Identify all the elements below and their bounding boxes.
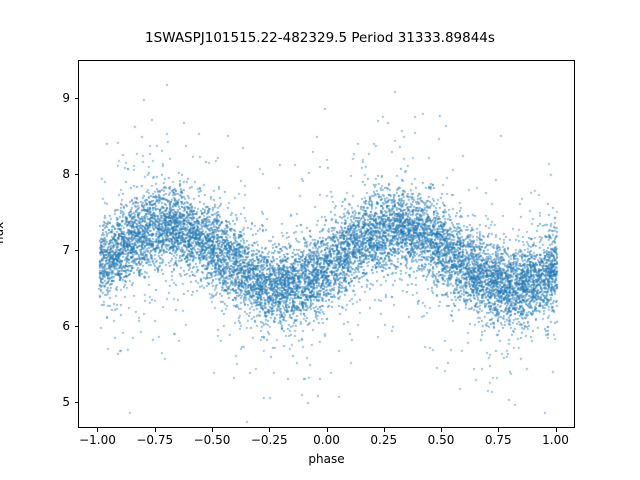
scatter-plot-canvas [79,61,575,428]
chart-title: 1SWASPJ101515.22-482329.5 Period 31333.8… [0,30,640,46]
x-tick-label: 1.00 [542,433,569,447]
y-tick-label: 9 [56,91,70,105]
x-tick-mark [327,428,328,432]
x-tick-mark [441,428,442,432]
y-tick-label: 6 [56,319,70,333]
x-tick-mark [155,428,156,432]
x-tick-label: 0.75 [485,433,512,447]
x-tick-label: −0.25 [251,433,288,447]
x-tick-mark [97,428,98,432]
y-tick-mark [75,174,79,175]
x-tick-label: 0.50 [428,433,455,447]
x-tick-label: −0.50 [194,433,231,447]
x-tick-mark [498,428,499,432]
y-tick-mark [75,250,79,251]
x-tick-mark [384,428,385,432]
y-tick-mark [75,402,79,403]
plot-axes-area [78,60,575,428]
x-tick-mark [212,428,213,432]
x-tick-label: 0.25 [370,433,397,447]
y-tick-mark [75,326,79,327]
x-tick-label: −1.00 [79,433,116,447]
y-tick-label: 5 [56,395,70,409]
x-tick-mark [269,428,270,432]
y-tick-mark [75,98,79,99]
x-tick-label: 0.00 [313,433,340,447]
y-tick-label: 8 [56,167,70,181]
y-axis-label: flux [0,222,6,244]
y-tick-label: 7 [56,243,70,257]
x-tick-mark [556,428,557,432]
matplotlib-figure: 1SWASPJ101515.22-482329.5 Period 31333.8… [0,0,640,480]
x-tick-label: −0.75 [136,433,173,447]
x-axis-label: phase [78,452,575,466]
